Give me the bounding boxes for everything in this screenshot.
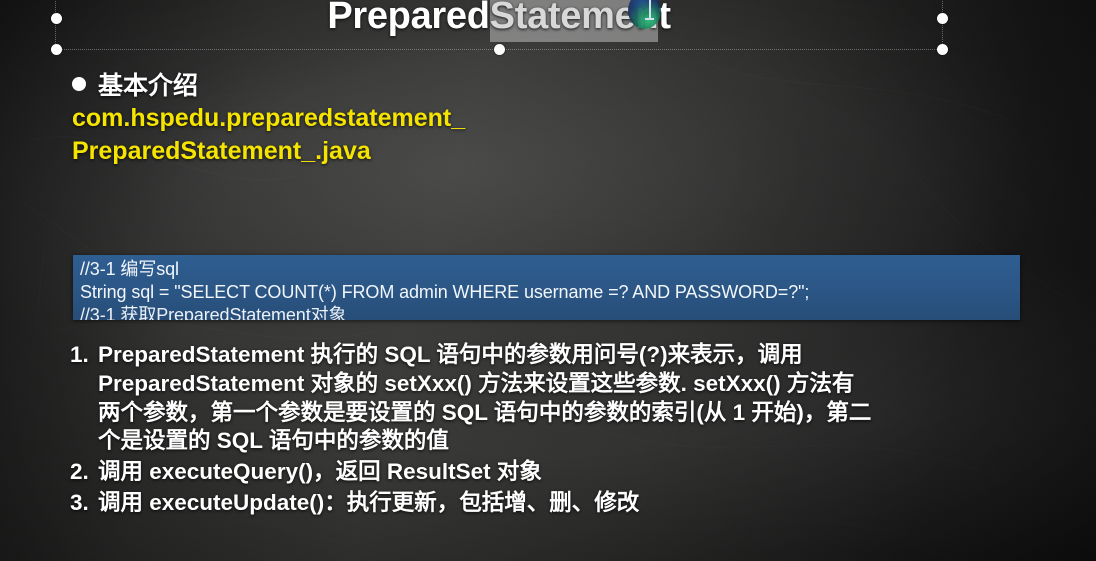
resize-handle-middle-right[interactable] bbox=[937, 13, 948, 24]
source-path: com.hspedu.preparedstatement_ PreparedSt… bbox=[72, 102, 465, 169]
code-line-sql: String sql = "SELECT COUNT(*) FROM admin… bbox=[73, 281, 1020, 304]
resize-handle-middle-left[interactable] bbox=[51, 13, 62, 24]
list-item: 1. PreparedStatement 执行的 SQL 语句中的参数用问号(?… bbox=[70, 341, 1080, 456]
list-item-number: 2. bbox=[70, 458, 98, 487]
list-item: 2. 调用 executeQuery()，返回 ResultSet 对象 bbox=[70, 458, 1080, 487]
list-item-line: 个是设置的 SQL 语句中的参数的值 bbox=[98, 427, 1080, 456]
notes-list: 1. PreparedStatement 执行的 SQL 语句中的参数用问号(?… bbox=[70, 341, 1080, 520]
list-item-line: 调用 executeQuery()，返回 ResultSet 对象 bbox=[98, 458, 1080, 487]
page-title[interactable]: PreparedStatement bbox=[56, 0, 942, 38]
resize-handle-bottom-left[interactable] bbox=[51, 44, 62, 55]
list-item-number: 1. bbox=[70, 341, 98, 370]
list-item-line: PreparedStatement 对象的 setXxx() 方法来设置这些参数… bbox=[98, 370, 1080, 399]
section-heading-label: 基本介绍 bbox=[98, 66, 198, 102]
resize-handle-bottom-center[interactable] bbox=[494, 44, 505, 55]
list-item-body: 调用 executeQuery()，返回 ResultSet 对象 bbox=[98, 458, 1080, 487]
title-text-before: Prepared bbox=[327, 0, 489, 37]
list-item-body: 调用 executeUpdate()：执行更新，包括增、删、修改 bbox=[98, 489, 1080, 518]
list-item-body: PreparedStatement 执行的 SQL 语句中的参数用问号(?)来表… bbox=[98, 341, 1080, 456]
title-textbox[interactable]: PreparedStatement bbox=[55, 0, 943, 50]
resize-handle-bottom-right[interactable] bbox=[937, 44, 948, 55]
code-snippet-block: //3-1 编写sql String sql = "SELECT COUNT(*… bbox=[73, 255, 1020, 320]
list-item-line: 两个参数，第一个参数是要设置的 SQL 语句中的参数的索引(从 1 开始)，第二 bbox=[98, 399, 1080, 428]
section-heading: 基本介绍 bbox=[72, 66, 198, 102]
code-line-comment-2: //3-1 获取PreparedStatement对象 bbox=[73, 304, 1020, 320]
title-text-selection[interactable]: Statemen bbox=[490, 0, 659, 42]
list-item: 3. 调用 executeUpdate()：执行更新，包括增、删、修改 bbox=[70, 489, 1080, 518]
source-path-line-2: PreparedStatement_.java bbox=[72, 135, 465, 168]
list-item-number: 3. bbox=[70, 489, 98, 518]
title-text-after: t bbox=[658, 0, 670, 37]
list-item-line: PreparedStatement 执行的 SQL 语句中的参数用问号(?)来表… bbox=[98, 341, 1080, 370]
bullet-dot-icon bbox=[72, 77, 86, 91]
presentation-slide: PreparedStatement 基本介绍 com.hspedu.prepar… bbox=[0, 0, 1096, 561]
source-path-line-1: com.hspedu.preparedstatement_ bbox=[72, 102, 465, 135]
list-item-line: 调用 executeUpdate()：执行更新，包括增、删、修改 bbox=[98, 489, 1080, 518]
code-line-comment-1: //3-1 编写sql bbox=[73, 255, 1020, 281]
